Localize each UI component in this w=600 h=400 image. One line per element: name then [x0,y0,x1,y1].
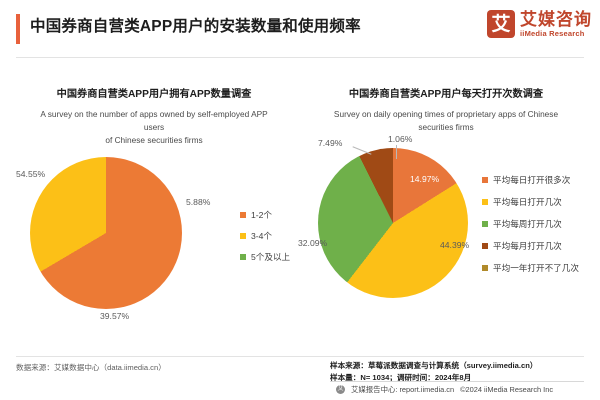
pie-chart-daily-opens[interactable] [318,148,468,298]
legend-item-3-4[interactable]: 3-4个 [240,230,290,242]
pie-label-3-4: 54.55% [16,169,45,179]
data-source-left: 数据来源：艾媒数据中心（data.iimedia.cn） [16,362,166,373]
legend-swatch-5-plus [240,254,246,260]
logo-mark-icon: 艾 [487,10,515,38]
copyright-text: ©2024 iiMedia Research Inc [460,385,553,394]
pie-label-monthly: 7.49% [318,138,342,148]
pie-label-1-2: 39.57% [100,311,129,321]
legend-swatch-weekly [482,221,488,227]
legend-item-yearly[interactable]: 平均一年打开不了几次 [482,262,579,274]
footer-divider-2 [330,381,584,382]
legend-swatch-yearly [482,265,488,271]
chart-subtitle-right: Survey on daily opening times of proprie… [300,108,592,134]
pie-label-5-plus: 5.88% [186,197,210,207]
legend-label-5-plus: 5个及以上 [251,251,290,263]
legend-swatch-3-4 [240,233,246,239]
legend-item-5-plus[interactable]: 5个及以上 [240,251,290,263]
iimedia-logo: 艾 艾媒咨询 iiMedia Research [487,10,592,38]
pie-label-yearly: 1.06% [388,134,412,144]
legend-item-many-daily[interactable]: 平均每日打开很多次 [482,174,579,186]
footer-divider [16,356,584,357]
logo-name-en: iiMedia Research [520,30,592,38]
pie-area-left: 54.55% 5.88% 39.57% 1-2个 3-4个 5个及以上 [8,151,300,329]
legend-item-weekly[interactable]: 平均每周打开几次 [482,218,579,230]
legend-swatch-many-daily [482,177,488,183]
legend-swatch-few-daily [482,199,488,205]
legend-item-1-2[interactable]: 1-2个 [240,209,290,221]
pie-area-right: 7.49% 1.06% 14.97% 44.39% 32.09% 平均每日打开很… [300,138,592,316]
legend-label-3-4: 3-4个 [251,230,272,242]
legend-apps-owned: 1-2个 3-4个 5个及以上 [240,209,290,272]
chart-subtitle-right-line1: Survey on daily opening times of proprie… [334,109,558,119]
pie-chart-apps-owned[interactable] [30,157,182,309]
legend-swatch-monthly [482,243,488,249]
chart-title-left: 中国券商自营类APP用户拥有APP数量调查 [8,88,300,101]
logo-text: 艾媒咨询 iiMedia Research [520,11,592,38]
chart-subtitle-right-line2: securities firms [418,122,473,132]
chart-subtitle-left-line2: of Chinese securities firms [105,135,202,145]
pie-label-many-daily: 14.97% [410,174,439,184]
pie-label-weekly: 32.09% [298,238,327,248]
logo-name-cn: 艾媒咨询 [520,11,592,28]
legend-label-weekly: 平均每周打开几次 [493,218,562,230]
sample-source: 样本来源：草莓派数据调查与计算系统（survey.iimedia.cn） [330,360,537,372]
legend-label-monthly: 平均每月打开几次 [493,240,562,252]
legend-item-monthly[interactable]: 平均每月打开几次 [482,240,579,252]
footer-attribution: 艾 艾媒报告中心: report.iimedia.cn ©2024 iiMedi… [336,384,553,395]
report-center-link[interactable]: 艾媒报告中心: report.iimedia.cn [351,384,454,395]
report-center-icon: 艾 [336,385,345,394]
pie-label-few-daily: 44.39% [440,240,469,250]
legend-item-few-daily[interactable]: 平均每日打开几次 [482,196,579,208]
legend-label-1-2: 1-2个 [251,209,272,221]
title-accent-bar [16,14,20,44]
chart-panel-daily-opens: 中国券商自营类APP用户每天打开次数调查 Survey on daily ope… [300,62,592,340]
legend-swatch-1-2 [240,212,246,218]
legend-label-yearly: 平均一年打开不了几次 [493,262,579,274]
chart-subtitle-left: A survey on the number of apps owned by … [8,108,300,147]
chart-title-right: 中国券商自营类APP用户每天打开次数调查 [300,88,592,101]
sample-info: 样本来源：草莓派数据调查与计算系统（survey.iimedia.cn） 样本量… [330,360,537,384]
chart-panel-apps-owned: 中国券商自营类APP用户拥有APP数量调查 A survey on the nu… [8,62,300,340]
header-divider [16,57,584,58]
legend-label-few-daily: 平均每日打开几次 [493,196,562,208]
legend-daily-opens: 平均每日打开很多次 平均每日打开几次 平均每周打开几次 平均每月打开几次 平均一… [482,174,579,284]
page-header: 中国券商自营类APP用户的安装数量和使用频率 艾 艾媒咨询 iiMedia Re… [0,0,600,58]
chart-subtitle-left-line1: A survey on the number of apps owned by … [40,109,267,132]
page-title: 中国券商自营类APP用户的安装数量和使用频率 [30,14,361,36]
leader-line-yearly [396,145,397,159]
legend-label-many-daily: 平均每日打开很多次 [493,174,570,186]
